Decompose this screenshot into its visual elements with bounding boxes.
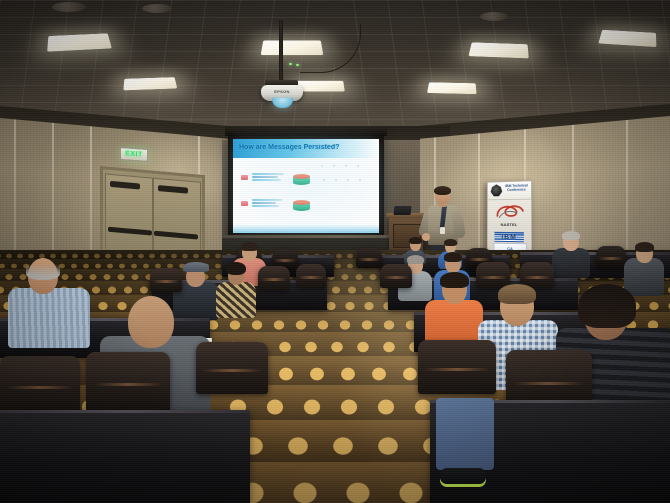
attendee-hair [409,237,422,244]
ceiling-light-panel [427,82,477,94]
attendee-hair [578,284,636,328]
slide-row-text [252,173,286,182]
conference-room-photo: EPSON EXIT [0,0,670,503]
chair[interactable] [0,356,80,414]
attendee-shoe [440,468,486,484]
attendee-head [128,296,174,348]
presentation-slide: How are Messages Persisted? 1 2 3 4 [233,139,379,233]
attendee-hair [226,262,246,275]
slide-row-tag [241,201,248,206]
attendee-hat-flatcap [183,262,209,272]
chair[interactable] [596,246,626,268]
attendee-hair [562,231,580,240]
slide-column-header: 4 [357,164,359,168]
sponsor-banner: IBM Technical Conference NASTEL IBM CA [487,180,532,258]
presenter-hair [434,186,451,195]
attendee-hair [635,242,654,252]
ceiling-speaker [142,4,172,13]
chair[interactable] [258,266,290,290]
ceiling-speaker [52,2,86,12]
chair[interactable] [150,268,182,292]
table-row [0,410,250,503]
exit-sign-label: EXIT [125,150,143,158]
presenter-badge [440,227,445,234]
chair[interactable] [380,264,412,288]
projector-brand-label: EPSON [261,89,303,94]
slide-diagram-row [233,197,379,219]
slide-title: How are Messages Persisted? [239,144,375,151]
ceiling-light-panel [468,42,528,58]
attendee-hair [26,264,60,280]
attendee [552,232,590,276]
slide-database-icon [293,200,310,210]
attendee-hair [407,255,424,264]
chair[interactable] [418,340,496,394]
slide-column-header: 2 [333,164,335,168]
presenter-arm-right [451,209,465,238]
banner-heading: IBM Technical Conference [504,183,529,192]
banner-swoosh-icon [494,202,525,219]
slide-row-text [252,199,286,208]
banner-sponsor-logo-ibm: IBM [494,232,523,242]
ceiling-light-panel [123,77,177,90]
chair[interactable] [86,352,170,412]
slide-database-icon [293,174,310,184]
attendee-torso [216,282,256,318]
slide-column-header: 3 [345,164,347,168]
slide-row-tag [241,175,248,180]
table-edge [0,410,250,413]
exit-sign: EXIT [120,147,148,162]
attendee-hair [444,239,457,246]
slide-diagram-row [233,171,379,193]
attendee-legs [436,398,494,498]
attendee-hair [444,252,462,262]
slide-footer-bar [233,224,379,233]
attendee-hair [498,284,536,304]
attendee [624,244,664,294]
chair[interactable] [196,342,268,394]
attendee-torso [552,248,590,278]
attendee [216,264,256,316]
attendee [8,258,90,344]
projector-mount-pole [279,20,283,82]
podium-laptop [394,206,412,215]
chair[interactable] [296,264,326,288]
attendee-torso [8,288,90,348]
projector-status-led [296,64,299,66]
chair[interactable] [356,248,382,268]
projector-status-led [289,63,292,65]
attendee [425,274,483,348]
banner-sponsor-logo: NASTEL [492,222,527,227]
attendee-hair [440,272,469,288]
attendee-hair [241,242,258,251]
attendee-jeans [436,398,494,470]
slide-column-header: 1 [321,164,323,168]
ceiling-speaker [480,12,508,21]
